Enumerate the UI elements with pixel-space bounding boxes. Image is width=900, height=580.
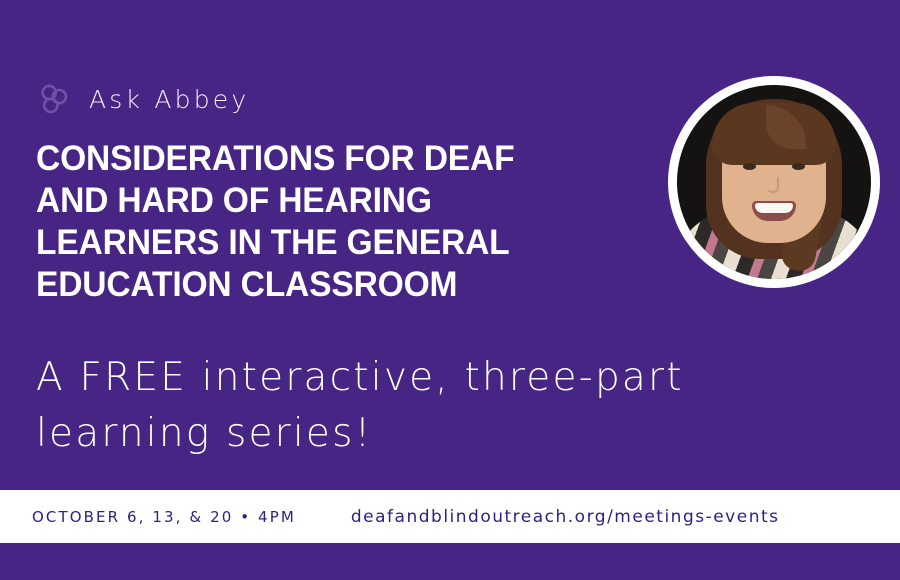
subtitle-line-1: A FREE interactive, three-part <box>36 350 856 406</box>
avatar-eye-right <box>792 163 805 170</box>
event-url[interactable]: deafandblindoutreach.org/meetings-events <box>351 507 780 527</box>
event-flyer: Ask Abbey CONSIDERATIONS FOR DEAF AND HA… <box>0 0 900 580</box>
brand-lockup: Ask Abbey <box>37 79 249 119</box>
avatar-mouth <box>752 201 796 221</box>
avatar-photo <box>677 85 871 279</box>
footer-bar: OCTOBER 6, 13, & 20 • 4PM deafandblindou… <box>0 490 900 543</box>
event-date-time: OCTOBER 6, 13, & 20 • 4PM <box>32 508 296 526</box>
avatar <box>668 76 880 288</box>
subtitle: A FREE interactive, three-part learning … <box>36 350 856 462</box>
headline-line-4: EDUCATION CLASSROOM <box>36 264 641 306</box>
headline-line-3: LEARNERS IN THE GENERAL <box>36 222 641 264</box>
page-title: CONSIDERATIONS FOR DEAF AND HARD OF HEAR… <box>36 138 641 306</box>
avatar-brow-right <box>790 153 809 157</box>
subtitle-line-2: learning series! <box>36 406 856 462</box>
avatar-nose <box>767 177 779 193</box>
avatar-eye-left <box>743 163 756 170</box>
three-interlocking-rings-icon <box>37 82 71 116</box>
headline-line-1: CONSIDERATIONS FOR DEAF <box>36 138 641 180</box>
avatar-teeth <box>755 203 793 213</box>
headline-line-2: AND HARD OF HEARING <box>36 180 641 222</box>
avatar-brow-left <box>739 153 758 157</box>
brand-name: Ask Abbey <box>89 87 249 112</box>
